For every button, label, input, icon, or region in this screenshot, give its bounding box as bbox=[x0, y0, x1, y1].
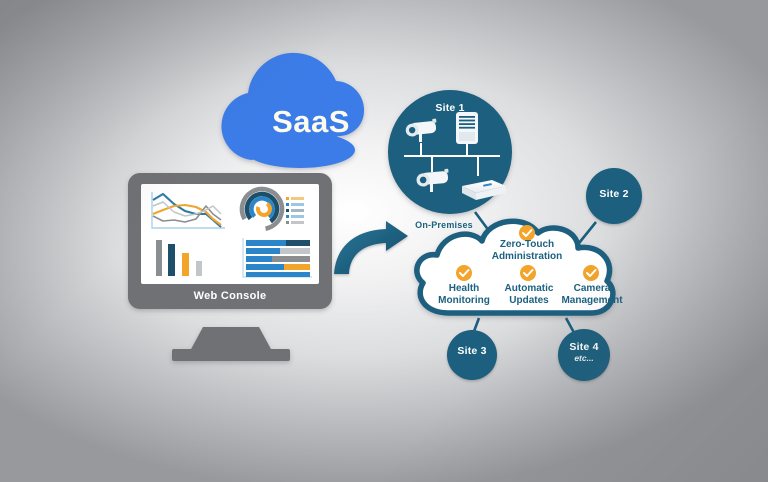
hbar-row bbox=[246, 272, 310, 277]
saas-label: SaaS bbox=[253, 104, 369, 140]
hbar-row bbox=[246, 256, 310, 262]
feature-line-2: Management bbox=[554, 295, 630, 307]
legend-bar-3 bbox=[291, 209, 304, 212]
web-console-label: Web Console bbox=[132, 290, 328, 302]
site4-sublabel: etc... bbox=[555, 353, 613, 363]
site1-label: Site 1 bbox=[415, 102, 485, 114]
legend-swatch-1 bbox=[286, 197, 289, 200]
site3-label: Site 3 bbox=[443, 345, 501, 357]
legend-swatch-5 bbox=[286, 221, 289, 224]
feature-line-1: Zero-Touch bbox=[484, 239, 570, 251]
hbar-row bbox=[246, 264, 310, 270]
feature-camera-management: Camera Management bbox=[554, 283, 630, 306]
check-circle-icon bbox=[520, 265, 536, 281]
legend-swatch-3 bbox=[286, 209, 289, 212]
on-premises-label: On-Premises bbox=[404, 220, 484, 230]
feature-line-1: Camera bbox=[554, 283, 630, 295]
legend-bar-2 bbox=[291, 203, 304, 206]
feature-line-2: Monitoring bbox=[430, 295, 498, 307]
curved-arrow-icon bbox=[334, 221, 408, 274]
check-circle-icon bbox=[456, 265, 472, 281]
legend-bar-1 bbox=[291, 197, 304, 200]
site2-label: Site 2 bbox=[585, 188, 643, 200]
legend-bar-5 bbox=[291, 221, 304, 224]
legend-bar-4 bbox=[291, 215, 304, 218]
site4-label: Site 4 bbox=[555, 341, 613, 353]
legend-swatch-2 bbox=[286, 203, 289, 206]
bar-3 bbox=[182, 253, 189, 276]
diagram-canvas: SaaS Web Console On-Premises Site 1 Site… bbox=[0, 0, 768, 482]
hbar-row bbox=[246, 248, 310, 254]
bar-1 bbox=[156, 240, 162, 276]
flow-arrow bbox=[334, 221, 408, 274]
server-rack-icon bbox=[456, 112, 478, 144]
monitor-stand-neck bbox=[190, 327, 272, 351]
feature-zero-touch-administration: Zero-Touch Administration bbox=[484, 239, 570, 262]
feature-health-monitoring: Health Monitoring bbox=[430, 283, 498, 306]
legend-swatch-4 bbox=[286, 215, 289, 218]
feature-line-1: Health bbox=[430, 283, 498, 295]
feature-line-2: Administration bbox=[484, 251, 570, 263]
bar-4 bbox=[196, 261, 202, 276]
bar-2 bbox=[168, 244, 175, 276]
check-circle-icon bbox=[583, 265, 599, 281]
diagram-vectors bbox=[0, 0, 768, 482]
hbar-row bbox=[246, 240, 310, 246]
